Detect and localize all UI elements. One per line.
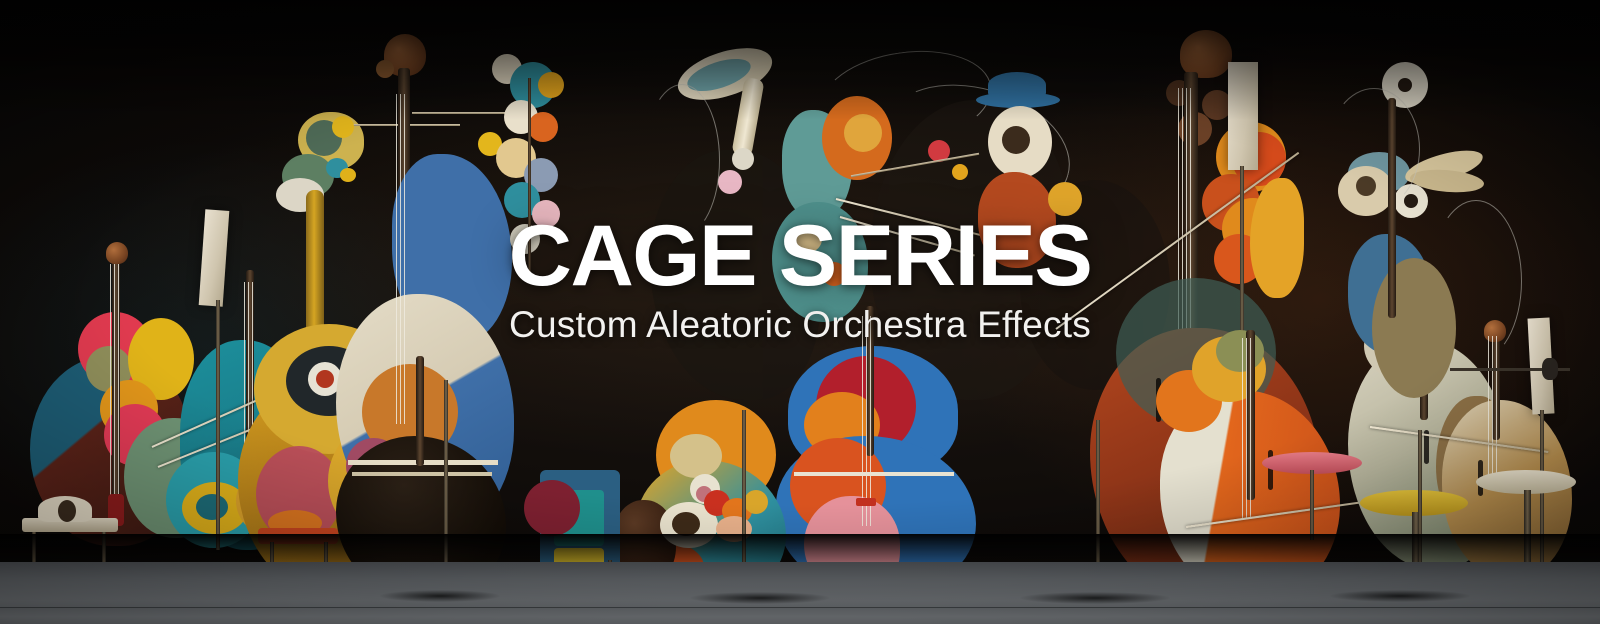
scroll-icon xyxy=(1180,30,1232,78)
microphone-boom xyxy=(1430,200,1570,460)
sculpture-mobile-discs xyxy=(482,54,592,294)
shadow xyxy=(1330,590,1470,602)
stand-pole xyxy=(216,300,220,550)
shadow xyxy=(380,590,500,602)
music-stand-slab xyxy=(1228,62,1258,170)
shadow xyxy=(1020,592,1170,604)
stage-floor-front xyxy=(0,608,1600,624)
hero-banner: CAGE SERIES Custom Aleatoric Orchestra E… xyxy=(0,0,1600,624)
shadow xyxy=(690,592,830,604)
sculpture-stool-pink xyxy=(1262,452,1372,542)
scroll-icon xyxy=(106,242,128,264)
